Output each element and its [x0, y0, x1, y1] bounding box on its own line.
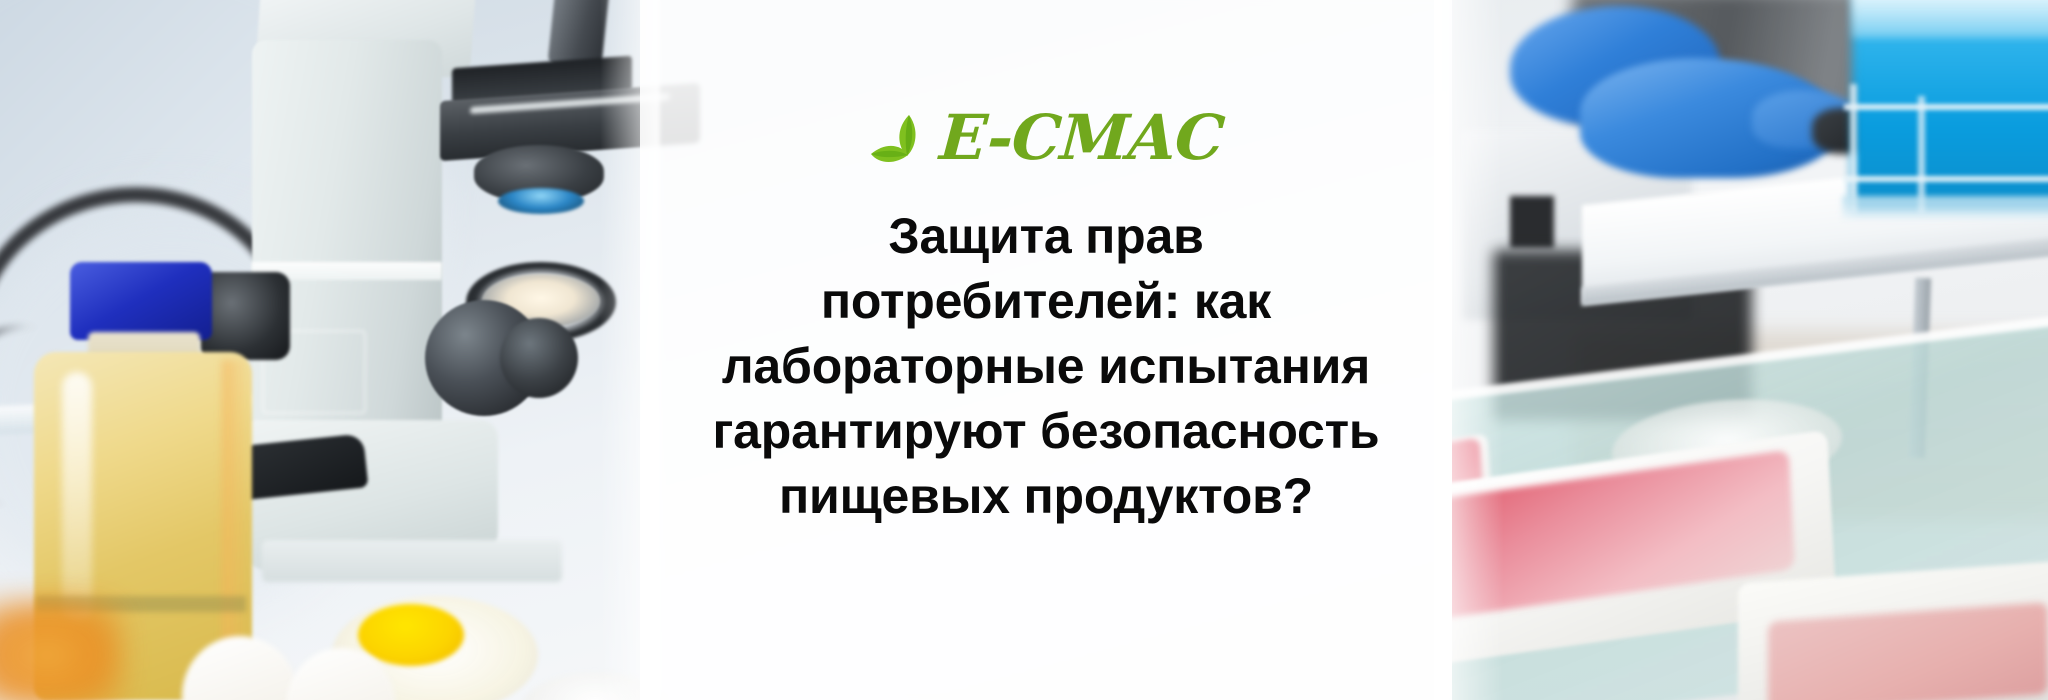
two-leaves-icon: [868, 107, 930, 169]
reagent-bottle-highlight: [62, 372, 92, 622]
headline-line-2: потребителей: как: [661, 269, 1431, 334]
black-valve-fitting: [200, 272, 290, 360]
reagent-bottle-cap: [70, 262, 212, 340]
microscope-objective-lens: [498, 188, 584, 214]
page-title: Защита прав потребителей: как лабораторн…: [661, 204, 1431, 529]
lab-instrument-slot-1: [1510, 196, 1554, 248]
egg-yolk: [358, 604, 464, 666]
banner-content: E-CMAC Защита прав потребителей: как лаб…: [640, 0, 1452, 700]
article-hero-banner: E-CMAC Защита прав потребителей: как лаб…: [0, 0, 2048, 700]
orange-bokeh-blur: [0, 600, 122, 700]
test-tube-rack-wire-2: [1844, 176, 2048, 182]
microscope-fine-focus-knob: [500, 318, 578, 398]
test-tube-rack-base: [1842, 196, 2048, 220]
headline-line-1: Защита прав: [661, 204, 1431, 269]
microscope-foot: [262, 540, 562, 582]
test-tube-tops: [1852, 0, 2048, 38]
headline-line-5: пищевых продуктов?: [661, 464, 1431, 529]
test-tube-rack-wire-1: [1844, 104, 2048, 110]
brand-logo-text: E-CMAC: [938, 107, 1226, 169]
headline-line-3: лабораторные испытания: [661, 334, 1431, 399]
right-lab-scene: [1452, 0, 2048, 700]
test-tube-rack-post-1: [1850, 84, 1857, 214]
headline-line-4: гарантируют безопасность: [661, 399, 1431, 464]
brand-logo[interactable]: E-CMAC: [868, 96, 1224, 180]
